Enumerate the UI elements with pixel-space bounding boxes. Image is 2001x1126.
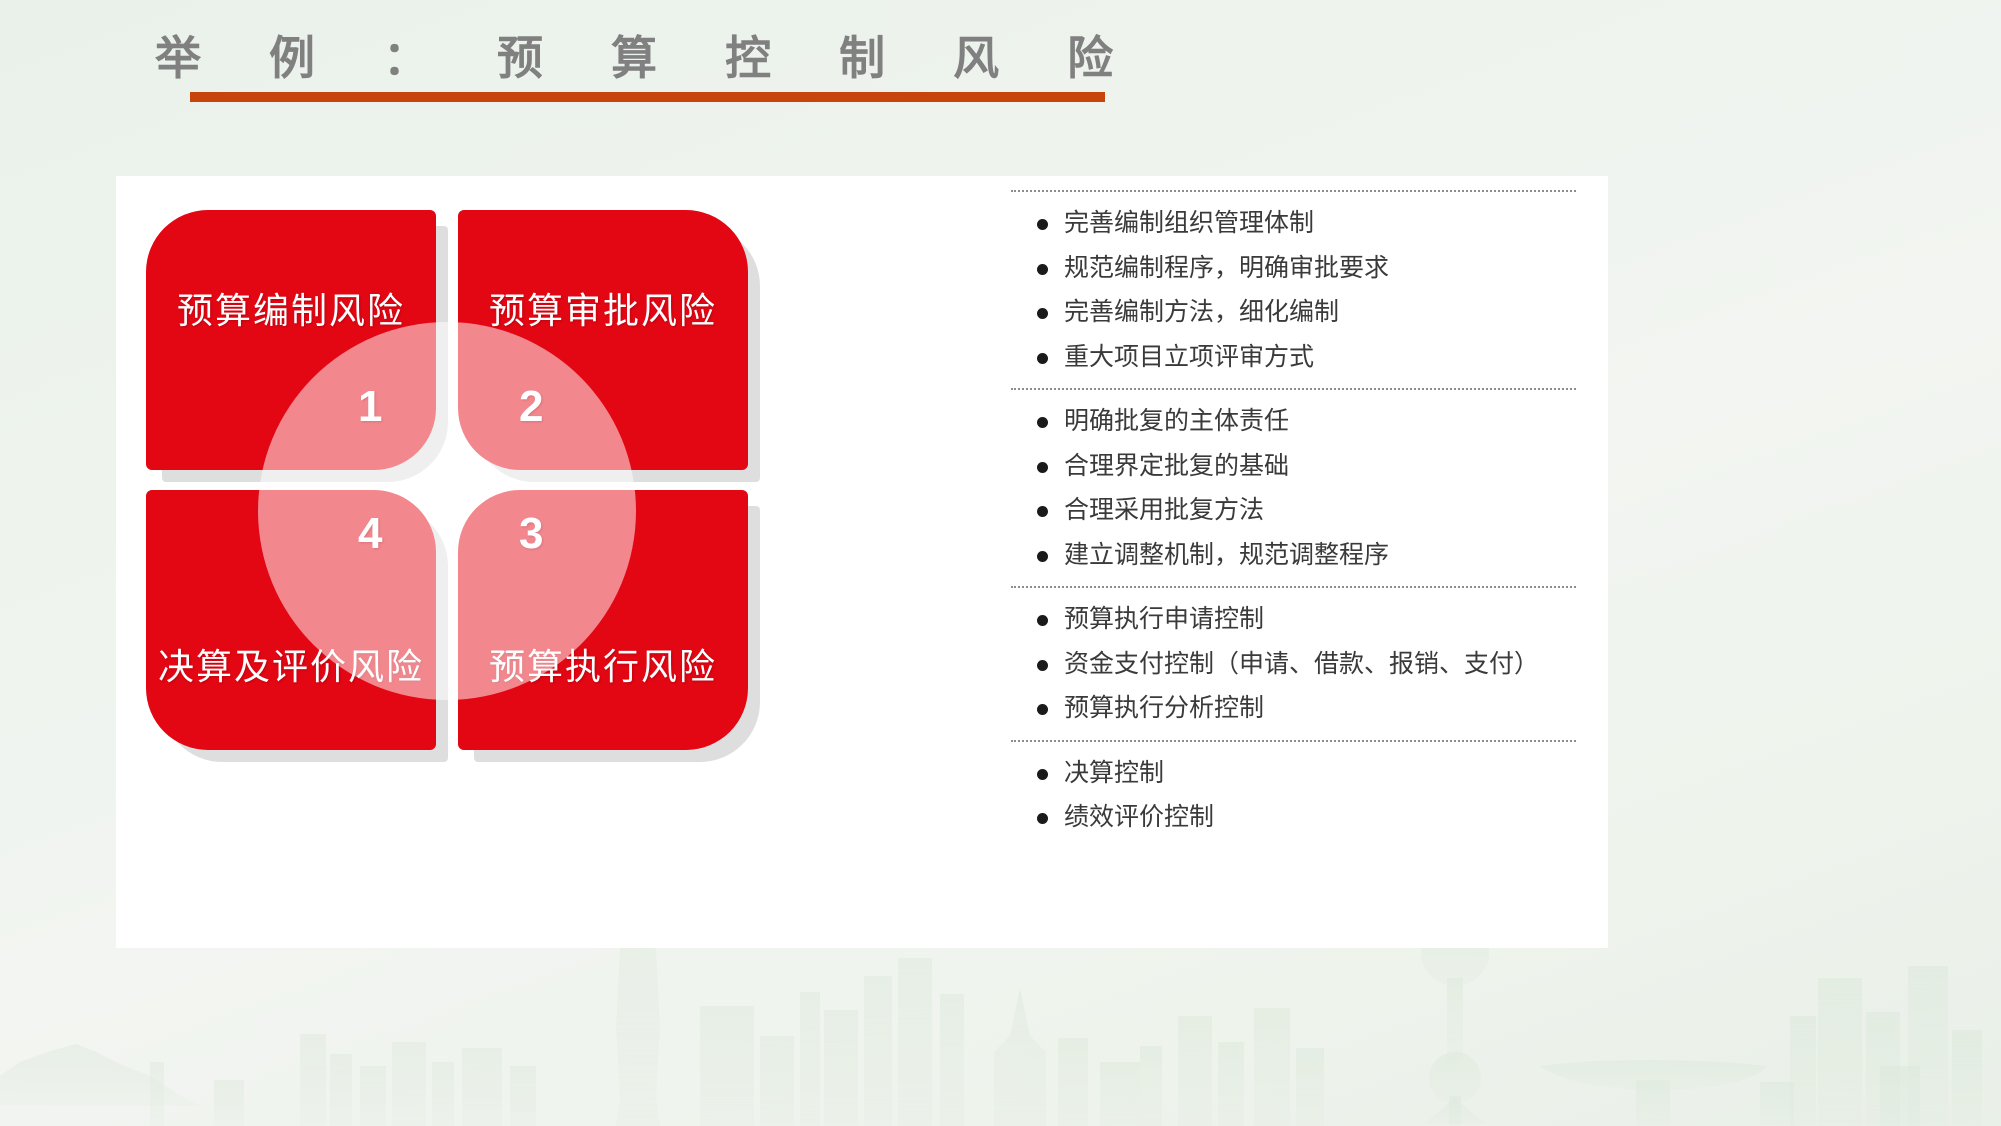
bullet-dot-icon [1037,704,1048,715]
bullet-dot-icon [1037,551,1048,562]
list-item-label: 完善编制方法，细化编制 [1064,297,1339,328]
content-panel: 预算编制风险 预算审批风险 预算执行风险 决算及评价风险 1 2 3 4 完善编… [116,176,1608,948]
quadrant-number-3: 3 [519,509,543,559]
list-item: 绩效评价控制 [1011,802,1586,833]
title-underline-rule [190,92,1105,102]
measures-group-2: 明确批复的主体责任 合理界定批复的基础 合理采用批复方法 建立调整机制，规范调整… [1011,390,1586,586]
bullet-dot-icon [1037,615,1048,626]
quadrant-number-2: 2 [519,382,543,432]
list-item-label: 决算控制 [1064,758,1164,789]
title-block: 举 例 ： 预 算 控 制 风 险 [0,0,2001,130]
list-item-label: 资金支付控制（申请、借款、报销、支付） [1064,649,1539,680]
measures-group-1: 完善编制组织管理体制 规范编制程序，明确审批要求 完善编制方法，细化编制 重大项… [1011,192,1586,388]
bullet-dot-icon [1037,462,1048,473]
list-item-label: 合理界定批复的基础 [1064,451,1289,482]
quadrant-label-2: 预算审批风险 [458,282,748,334]
list-item: 建立调整机制，规范调整程序 [1011,540,1586,571]
list-item: 预算执行申请控制 [1011,604,1586,635]
bullet-dot-icon [1037,769,1048,780]
list-item: 完善编制组织管理体制 [1011,208,1586,239]
quadrant-tile-1[interactable]: 预算编制风险 [146,210,436,470]
page-title: 举 例 ： 预 算 控 制 风 险 [155,22,1139,88]
bullet-dot-icon [1037,353,1048,364]
list-item: 明确批复的主体责任 [1011,406,1586,437]
list-item: 重大项目立项评审方式 [1011,342,1586,373]
list-item-label: 明确批复的主体责任 [1064,406,1289,437]
bullet-dot-icon [1037,264,1048,275]
list-item-label: 绩效评价控制 [1064,802,1214,833]
list-item-label: 合理采用批复方法 [1064,495,1264,526]
list-item-label: 规范编制程序，明确审批要求 [1064,253,1389,284]
list-item: 资金支付控制（申请、借款、报销、支付） [1011,649,1586,680]
bullet-dot-icon [1037,219,1048,230]
list-item: 规范编制程序，明确审批要求 [1011,253,1586,284]
list-item-label: 预算执行申请控制 [1064,604,1264,635]
list-item: 预算执行分析控制 [1011,693,1586,724]
bullet-dot-icon [1037,417,1048,428]
list-item: 合理界定批复的基础 [1011,451,1586,482]
list-item-label: 建立调整机制，规范调整程序 [1064,540,1389,571]
list-item-label: 重大项目立项评审方式 [1064,342,1314,373]
quadrant-number-4: 4 [358,509,382,559]
quadrant-label-3: 预算执行风险 [458,638,748,690]
bullet-dot-icon [1037,506,1048,517]
list-item-label: 完善编制组织管理体制 [1064,208,1314,239]
quadrant-tile-3[interactable]: 预算执行风险 [458,490,748,750]
measures-list-column: 完善编制组织管理体制 规范编制程序，明确审批要求 完善编制方法，细化编制 重大项… [1011,190,1586,930]
list-item: 决算控制 [1011,758,1586,789]
quadrant-number-1: 1 [358,382,382,432]
measures-group-3: 预算执行申请控制 资金支付控制（申请、借款、报销、支付） 预算执行分析控制 [1011,588,1586,740]
quadrant-label-1: 预算编制风险 [146,282,436,334]
quadrant-tile-4[interactable]: 决算及评价风险 [146,490,436,750]
bullet-dot-icon [1037,660,1048,671]
measures-group-4: 决算控制 绩效评价控制 [1011,742,1586,849]
list-item-label: 预算执行分析控制 [1064,693,1264,724]
quadrant-tile-2[interactable]: 预算审批风险 [458,210,748,470]
bullet-dot-icon [1037,813,1048,824]
bullet-dot-icon [1037,308,1048,319]
list-item: 合理采用批复方法 [1011,495,1586,526]
quadrant-diagram: 预算编制风险 预算审批风险 预算执行风险 决算及评价风险 1 2 3 4 [136,204,966,924]
quadrant-label-4: 决算及评价风险 [146,638,436,690]
list-item: 完善编制方法，细化编制 [1011,297,1586,328]
